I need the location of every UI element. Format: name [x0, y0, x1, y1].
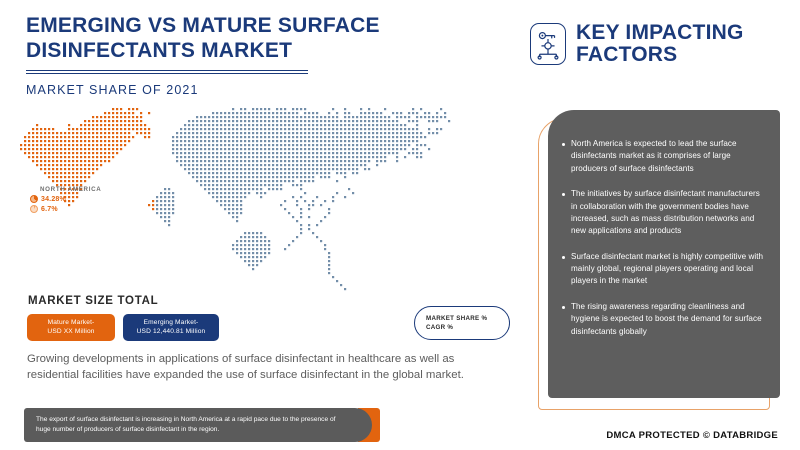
- pie-cagr-icon: [30, 205, 38, 213]
- key-network-icon: [530, 23, 566, 65]
- key-factors-header: KEY IMPACTING FACTORS: [530, 22, 800, 67]
- lead-paragraph: Growing developments in applications of …: [27, 351, 467, 383]
- list-item: North America is expected to lead the su…: [562, 138, 764, 175]
- bullet-text: Surface disinfectant market is highly co…: [571, 251, 764, 288]
- share-bubble-line2: CAGR %: [426, 324, 453, 331]
- emerging-market-pill: Emerging Market- USD 12,440.81 Million: [123, 314, 219, 341]
- list-item: Surface disinfectant market is highly co…: [562, 251, 764, 288]
- bullet-dot-icon: [562, 256, 565, 259]
- emerging-market-value: USD 12,440.81 Million: [137, 328, 206, 337]
- market-size-heading: MARKET SIZE TOTAL: [28, 295, 158, 307]
- pie-share-icon: [30, 195, 38, 203]
- infographic-root: EMERGING VS MATURE SURFACE DISINFECTANTS…: [0, 0, 800, 450]
- title-block: EMERGING VS MATURE SURFACE DISINFECTANTS…: [26, 14, 496, 97]
- bullet-dot-icon: [562, 306, 565, 309]
- emerging-market-label: Emerging Market-: [144, 319, 199, 328]
- key-factors-panel: North America is expected to lead the su…: [548, 110, 780, 398]
- share-cagr-bubble: MARKET SHARE % CAGR %: [414, 306, 510, 340]
- north-america-legend: NORTH AMERICA 34.28% 6.7%: [30, 186, 180, 213]
- note-banner: The export of surface disinfectant is in…: [24, 408, 380, 442]
- cagr-value: 6.7%: [41, 206, 58, 213]
- note-banner-text: The export of surface disinfectant is in…: [24, 408, 372, 442]
- key-factors-title: KEY IMPACTING FACTORS: [576, 22, 800, 67]
- list-item: The rising awareness regarding cleanline…: [562, 301, 764, 338]
- page-subtitle: MARKET SHARE OF 2021: [26, 83, 496, 97]
- bullet-text: The initiatives by surface disinfectant …: [571, 188, 764, 238]
- bullet-dot-icon: [562, 143, 565, 146]
- mature-market-label: Mature Market-: [48, 319, 95, 328]
- page-title: EMERGING VS MATURE SURFACE DISINFECTANTS…: [26, 14, 496, 64]
- market-size-pills: Mature Market- USD XX Million Emerging M…: [27, 314, 219, 341]
- footer-copyright: DMCA PROTECTED © DATABRIDGE: [606, 430, 778, 441]
- bullet-text: The rising awareness regarding cleanline…: [571, 301, 764, 338]
- title-divider: [26, 70, 308, 74]
- bullet-text: North America is expected to lead the su…: [571, 138, 764, 175]
- stat-row-cagr: 6.7%: [30, 205, 180, 213]
- stat-row-share: 34.28%: [30, 195, 180, 203]
- mature-market-pill: Mature Market- USD XX Million: [27, 314, 115, 341]
- share-bubble-line1: MARKET SHARE %: [426, 315, 487, 322]
- mature-market-value: USD XX Million: [47, 328, 94, 337]
- market-share-value: 34.28%: [41, 196, 66, 203]
- list-item: The initiatives by surface disinfectant …: [562, 188, 764, 238]
- region-label: NORTH AMERICA: [40, 186, 180, 193]
- bullet-dot-icon: [562, 193, 565, 196]
